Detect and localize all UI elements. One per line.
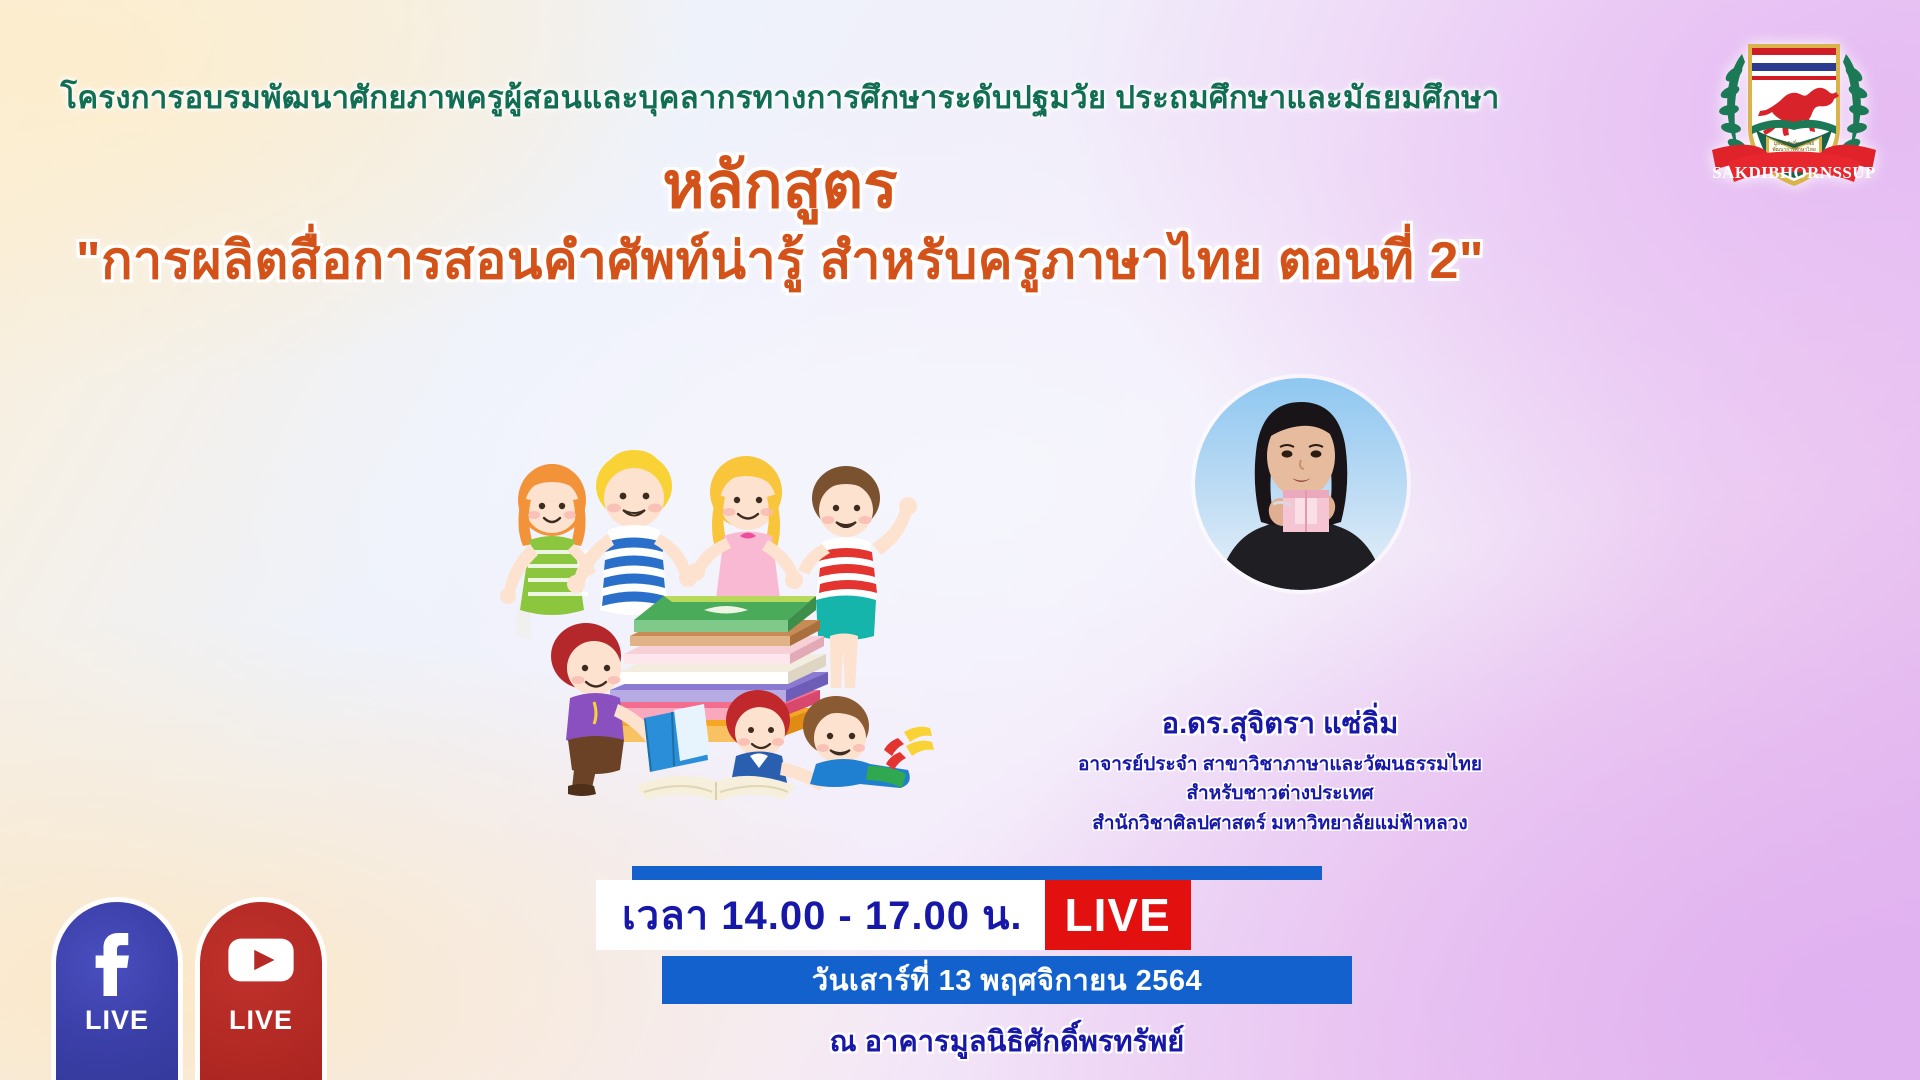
schedule-top-accent-bar	[632, 866, 1322, 880]
course-title: "การผลิตสื่อการสอนคำศัพท์น่ารู้ สำหรับคร…	[0, 218, 1560, 301]
speaker-affiliation: สำนักวิชาศิลปศาสตร์ มหาวิทยาลัยแม่ฟ้าหลว…	[1050, 809, 1510, 838]
speaker-name: อ.ดร.สุจิตรา แซ่ลิ่ม	[1050, 700, 1510, 746]
speaker-portrait	[1195, 378, 1407, 590]
schedule-date-bar: วันเสาร์ที่ 13 พฤศจิกายน 2564	[662, 956, 1352, 1004]
facebook-icon	[81, 924, 153, 996]
schedule-time-text: เวลา 14.00 - 17.00 น.	[596, 880, 1045, 950]
live-badge: LIVE	[1045, 880, 1191, 950]
facebook-live-label: LIVE	[56, 1005, 178, 1036]
live-badge-label: LIVE	[1065, 892, 1171, 938]
children-with-books-illustration	[468, 420, 948, 800]
youtube-icon	[225, 924, 297, 996]
schedule-date-text: วันเสาร์ที่ 13 พฤศจิกายน 2564	[812, 957, 1202, 1003]
speaker-info: อ.ดร.สุจิตรา แซ่ลิ่ม อาจารย์ประจำ สาขาวิ…	[1050, 700, 1510, 838]
speaker-role-line-1: อาจารย์ประจำ สาขาวิชาภาษาและวัฒนธรรมไทย	[1050, 750, 1510, 779]
venue-text: ณ อาคารมูลนิธิศักดิ์พรทรัพย์	[662, 1018, 1352, 1064]
youtube-live-badge[interactable]: LIVE	[200, 902, 322, 1080]
broadcast-badges: LIVE LIVE	[56, 902, 322, 1080]
sakdibhornssup-crest: มูลนิธิศักดิ์พรทรัพย์ พัฒนาการศึกษาไทย ส…	[1704, 14, 1884, 204]
schedule-time-row: เวลา 14.00 - 17.00 น. LIVE	[596, 880, 1191, 950]
crest-ribbon-text: SAKDIBHORNSSUP	[1712, 163, 1875, 182]
speaker-role-line-2: สำหรับชาวต่างประเทศ	[1050, 779, 1510, 808]
program-line: โครงการอบรมพัฒนาศักยภาพครูผู้สอนและบุคลา…	[0, 72, 1560, 122]
youtube-live-label: LIVE	[200, 1005, 322, 1036]
svg-text:มูลนิธิศักดิ์พรทรัพย์: มูลนิธิศักดิ์พรทรัพย์	[1774, 139, 1815, 147]
facebook-live-badge[interactable]: LIVE	[56, 902, 178, 1080]
